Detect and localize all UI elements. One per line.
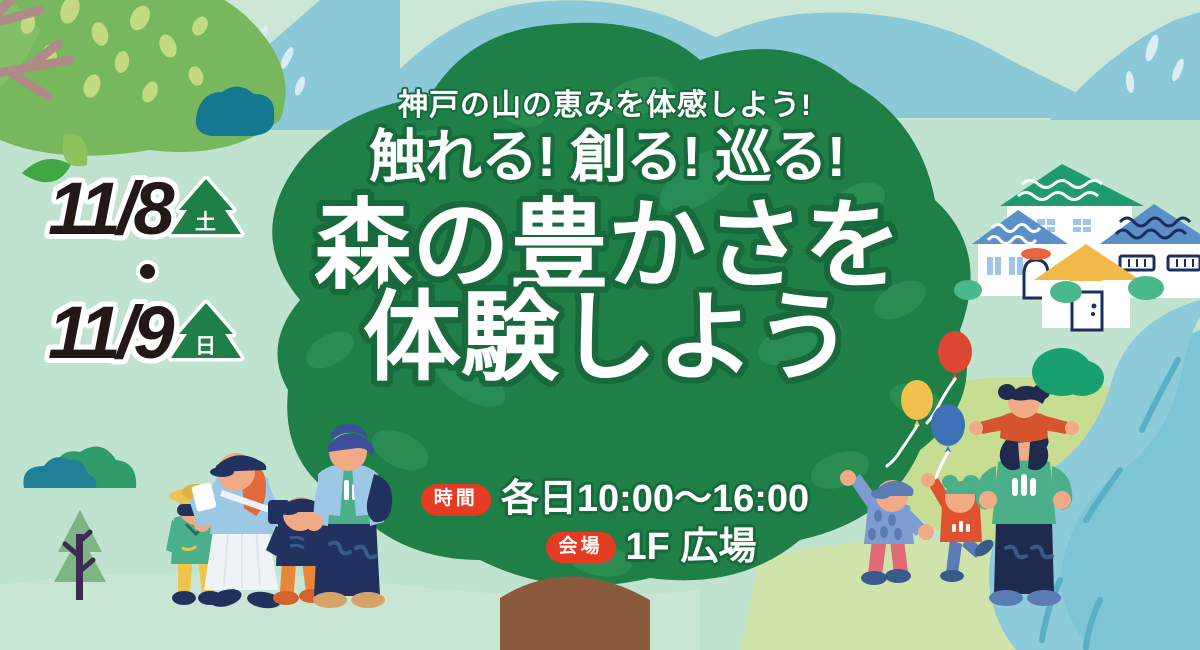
venue-tag: 会場 <box>546 532 616 564</box>
weekday-2-label: 日 <box>167 330 245 360</box>
info-row-venue: 会場 1F 広場 <box>30 526 1200 570</box>
date-1-text: 11/8 <box>48 172 171 246</box>
weekday-1-label: 土 <box>167 206 245 236</box>
date-row-1: 11/8 土 <box>48 168 328 250</box>
time-value: 各日10:00〜16:00 <box>501 478 809 522</box>
info-row-time: 時間 各日10:00〜16:00 <box>30 478 1200 522</box>
time-tag: 時間 <box>421 484 491 516</box>
date-separator-dot <box>140 264 155 279</box>
venue-value: 1F 広場 <box>626 526 757 570</box>
date-2-text: 11/9 <box>48 296 171 370</box>
event-info: 時間 各日10:00〜16:00 会場 1F 広場 <box>0 478 1200 573</box>
poster-subtitle: 神戸の山の恵みを体感しよう! <box>0 80 1200 124</box>
event-poster: 11/8 土 11/9 日 神戸の山の恵みを体感しよう! 触れる! 創る! <box>0 0 1200 650</box>
weekday-badge-2: 日 <box>167 300 245 374</box>
date-row-2: 11/9 日 <box>48 292 328 374</box>
event-dates: 11/8 土 11/9 日 <box>48 168 328 374</box>
weekday-badge-1: 土 <box>167 176 245 250</box>
